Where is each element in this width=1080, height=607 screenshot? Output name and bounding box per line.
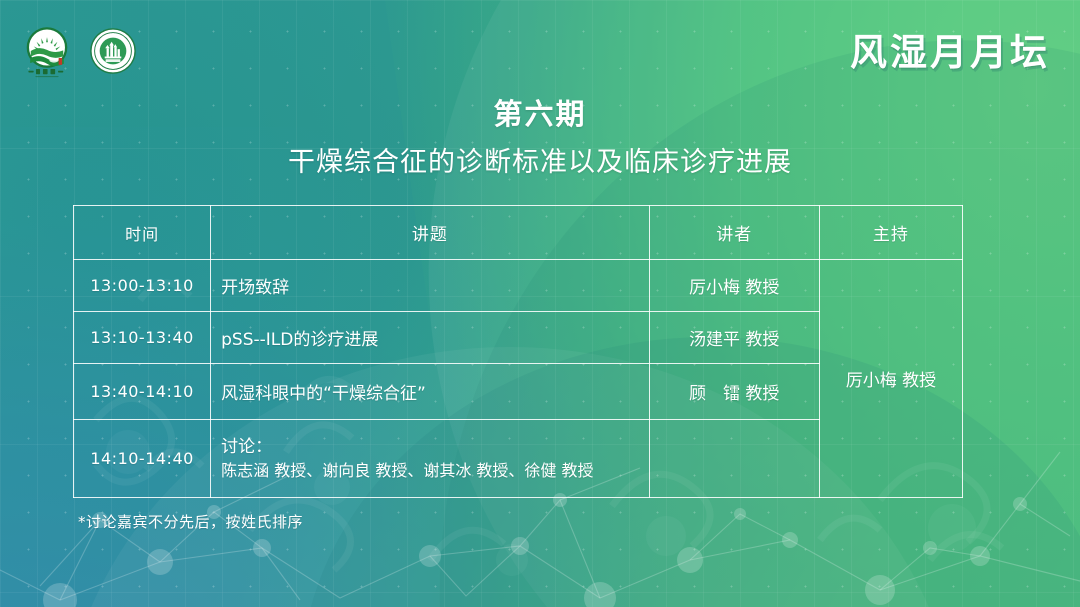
- cell-speaker-4: [649, 420, 819, 498]
- cell-speaker-2: 汤建平 教授: [649, 312, 819, 364]
- table-header-row: 时间 讲题 讲者 主持: [74, 206, 963, 260]
- svg-text:· · · · ·: · · · · ·: [109, 68, 117, 71]
- cell-speaker-3: 顾 镭 教授: [649, 364, 819, 420]
- title-block: 第六期 干燥综合征的诊断标准以及临床诊疗进展: [0, 96, 1080, 179]
- episode-title: 第六期: [0, 96, 1080, 132]
- schedule-table-wrap: 时间 讲题 讲者 主持 13:00-13:10 开场致辞 厉小梅 教授 厉小梅 …: [73, 205, 963, 497]
- cell-topic-4-discussion: 讨论： 陈志涵 教授、谢向良 教授、谢其冰 教授、徐健 教授: [211, 420, 649, 498]
- cell-time-1: 13:00-13:10: [74, 260, 211, 312]
- hospital-logo-primary-icon: [18, 22, 76, 80]
- cell-time-4: 14:10-14:40: [74, 420, 211, 498]
- discussion-names: 陈志涵 教授、谢向良 教授、谢其冰 教授、徐健 教授: [221, 459, 638, 482]
- table-row: 13:00-13:10 开场致辞 厉小梅 教授 厉小梅 教授: [74, 260, 963, 312]
- cell-topic-1: 开场致辞: [211, 260, 649, 312]
- svg-text:· · · · ·: · · · · ·: [109, 32, 117, 35]
- cell-speaker-1: 厉小梅 教授: [649, 260, 819, 312]
- column-header-time: 时间: [74, 206, 211, 260]
- footnote: *讨论嘉宾不分先后，按姓氏排序: [78, 511, 303, 532]
- cell-host-merged: 厉小梅 教授: [819, 260, 962, 498]
- discussion-label: 讨论：: [221, 435, 638, 460]
- column-header-host: 主持: [819, 206, 962, 260]
- cell-topic-3: 风湿科眼中的“干燥综合征”: [211, 364, 649, 420]
- cell-topic-2: pSS--ILD的诊疗进展: [211, 312, 649, 364]
- schedule-table: 时间 讲题 讲者 主持 13:00-13:10 开场致辞 厉小梅 教授 厉小梅 …: [73, 205, 963, 498]
- column-header-topic: 讲题: [211, 206, 649, 260]
- brand-title: 风湿月月坛: [850, 22, 1050, 76]
- logo-group: · · · · · · · · · ·: [18, 22, 136, 80]
- cell-time-2: 13:10-13:40: [74, 312, 211, 364]
- hospital-logo-secondary-icon: · · · · · · · · · ·: [90, 28, 136, 74]
- presentation-slide: · · · · · · · · · · 风湿月月坛 第六期 干燥综合征的诊断标准…: [0, 0, 1080, 607]
- cell-time-3: 13:40-14:10: [74, 364, 211, 420]
- column-header-speaker: 讲者: [649, 206, 819, 260]
- subject-title: 干燥综合征的诊断标准以及临床诊疗进展: [0, 140, 1080, 179]
